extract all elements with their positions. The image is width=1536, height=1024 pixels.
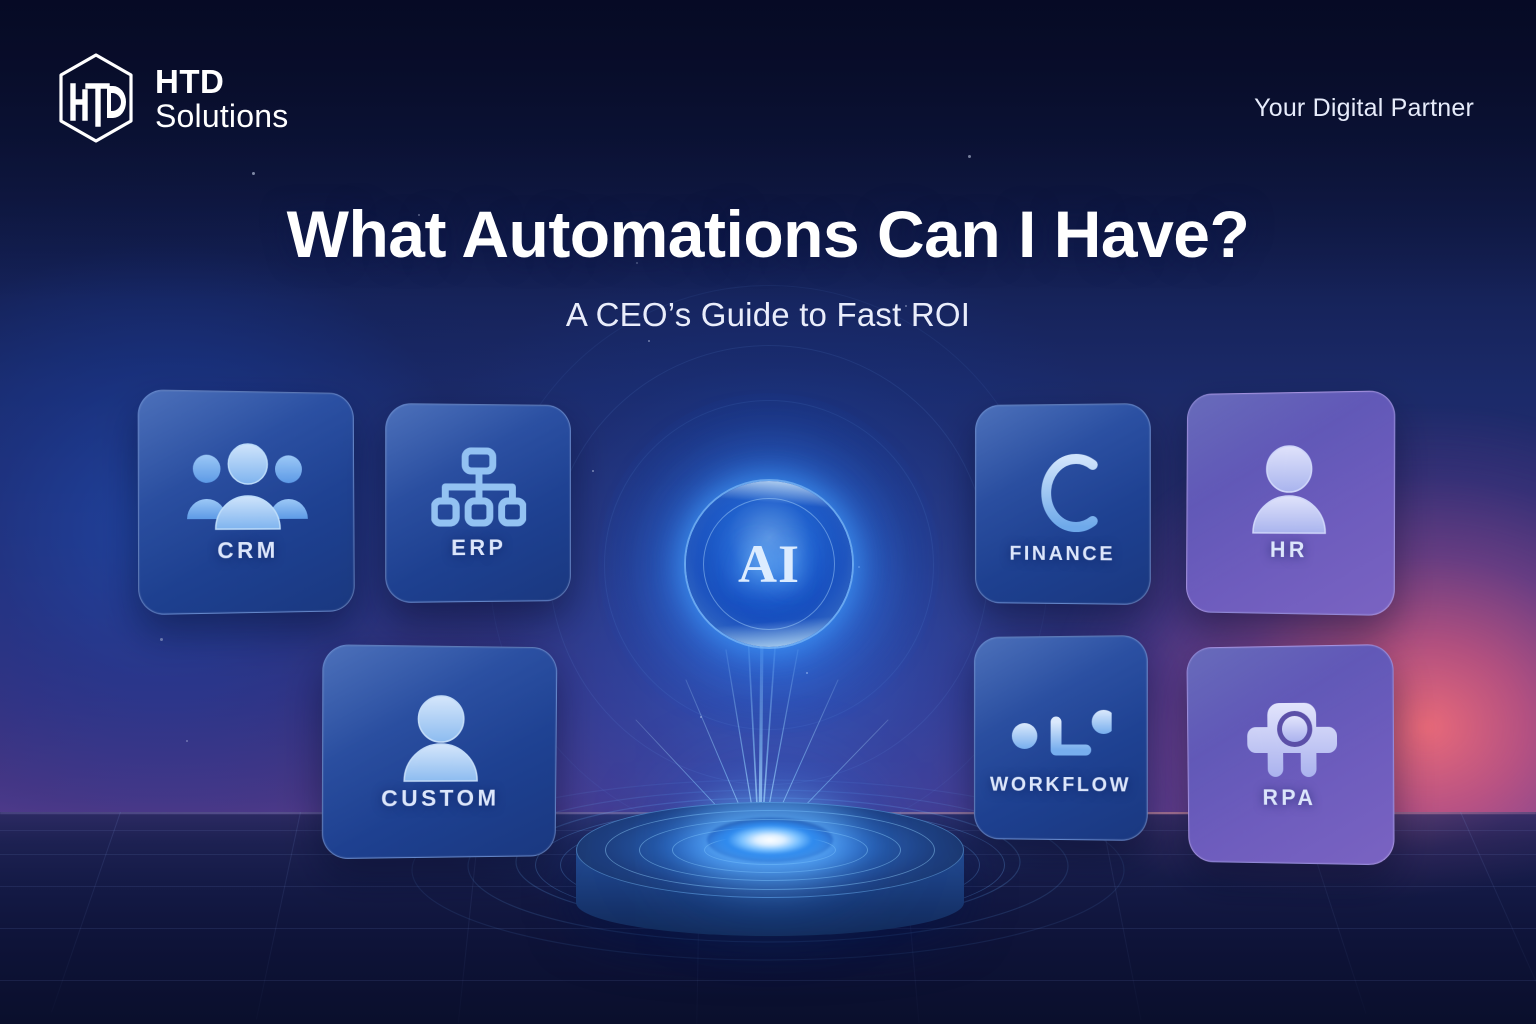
podium-light-core [707, 818, 833, 862]
htd-hexagon-logo-icon [55, 52, 137, 144]
people-group-icon [183, 440, 312, 537]
brand-name-line1: HTD [155, 65, 288, 98]
automation-card-rpa[interactable]: RPA [1186, 644, 1394, 866]
org-chart-icon [431, 445, 526, 535]
poster-canvas: HTD Solutions Your Digital Partner What … [0, 0, 1536, 1024]
card-label-crm: CRM [217, 536, 278, 564]
automation-card-workflow[interactable]: WORKFLOW [974, 635, 1148, 841]
ai-core-node[interactable]: AI [686, 481, 852, 647]
automation-card-erp[interactable]: ERP [385, 403, 571, 603]
automation-card-hr[interactable]: HR [1186, 390, 1395, 616]
holographic-podium [520, 780, 1020, 950]
euro-currency-icon [1014, 442, 1111, 543]
workflow-nodes-icon [1009, 679, 1112, 774]
page-title: What Automations Can I Have? [0, 196, 1536, 272]
single-person-icon [396, 692, 485, 785]
robot-machine-icon [1238, 698, 1340, 785]
card-label-workflow: WORKFLOW [990, 773, 1131, 797]
card-label-hr: HR [1270, 537, 1308, 563]
automation-card-finance[interactable]: FINANCE [975, 403, 1151, 605]
automation-card-crm[interactable]: CRM [138, 389, 355, 615]
brand-name-line2: Solutions [155, 100, 288, 132]
brand-logo[interactable]: HTD Solutions [55, 52, 288, 144]
page-subtitle: A CEO’s Guide to Fast ROI [0, 296, 1536, 334]
brand-tagline: Your Digital Partner [1254, 94, 1474, 123]
single-person-icon [1244, 443, 1334, 538]
card-label-finance: FINANCE [1009, 542, 1115, 566]
brand-wordmark: HTD Solutions [155, 65, 288, 132]
card-label-custom: CUSTOM [381, 784, 499, 812]
automation-card-custom[interactable]: CUSTOM [322, 644, 558, 859]
ai-label: AI [686, 481, 852, 647]
card-label-erp: ERP [451, 535, 506, 561]
card-label-rpa: RPA [1262, 785, 1316, 811]
